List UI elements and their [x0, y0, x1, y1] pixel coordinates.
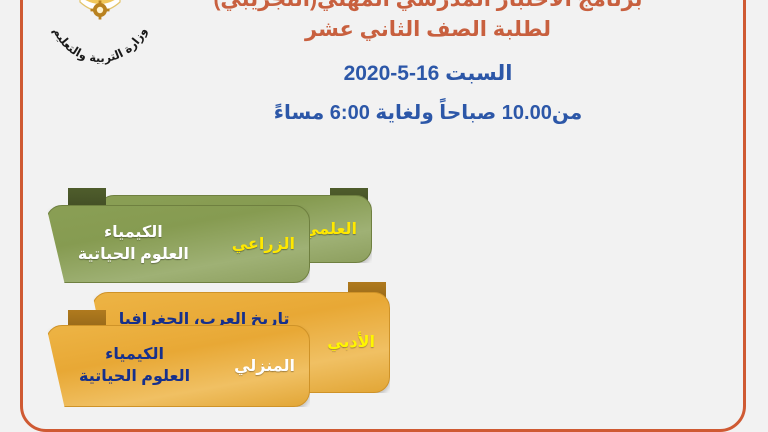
subject-list-home-economics: الكيمياء العلوم الحياتية	[57, 345, 212, 388]
subject-item: الكيمياء	[57, 223, 210, 244]
page-title-line-1: برنامج الاختبار المدرسي المهني(التجريبي)	[128, 0, 728, 13]
branch-label-scientific: العلمي	[303, 219, 357, 239]
branch-label-home-economics: المنزلي	[234, 356, 295, 376]
branch-label-agricultural: الزراعي	[232, 234, 295, 254]
subject-item: العلوم الحياتية	[57, 245, 210, 266]
branch-banner-home-economics[interactable]: المنزلي الكيمياء العلوم الحياتية	[46, 325, 310, 407]
poster-header: برنامج الاختبار المدرسي المهني(التجريبي)…	[128, 0, 728, 126]
branch-label-literary: الأدبي	[327, 332, 375, 352]
subject-item: العلوم الحياتية	[57, 367, 212, 388]
poster-canvas: وزارة التربية والتعليم	[0, 0, 768, 400]
exam-date: السبت 16-5-2020	[128, 60, 728, 87]
branch-banner-agricultural[interactable]: الزراعي الكيمياء العلوم الحياتية	[46, 205, 310, 283]
exam-time-range: من10.00 صباحاً ولغاية 6:00 مساءً	[128, 100, 728, 126]
subject-item: الكيمياء	[57, 345, 212, 366]
page-title-line-2: لطلبة الصف الثاني عشر	[128, 16, 728, 43]
subject-list-agricultural: الكيمياء العلوم الحياتية	[57, 223, 210, 266]
